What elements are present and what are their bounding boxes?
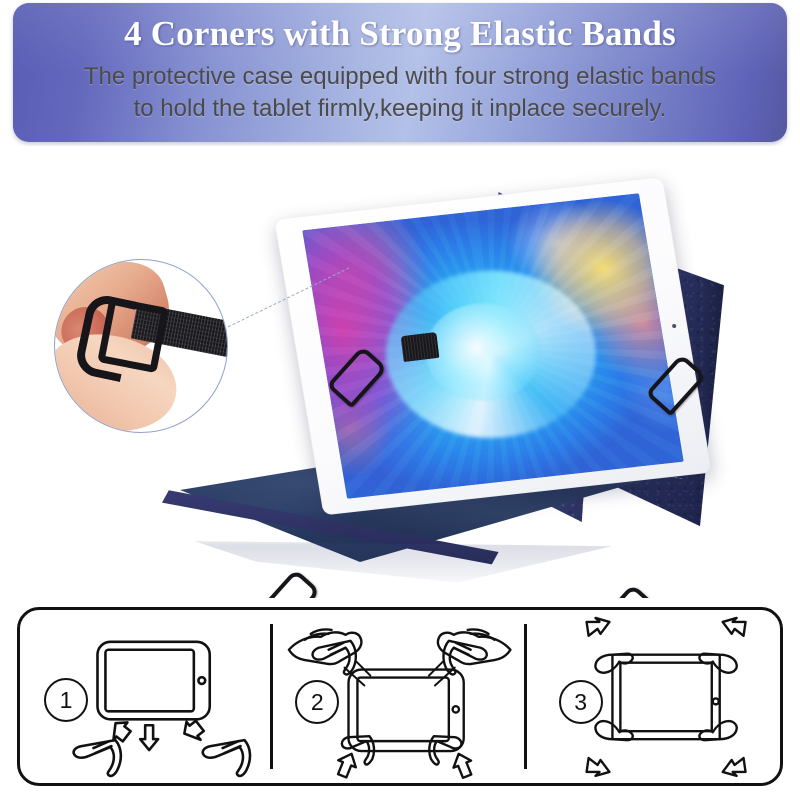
step-3-illustration — [527, 610, 780, 782]
step-2-illustration — [273, 610, 526, 782]
elastic-band-top — [401, 332, 440, 362]
case-reflection — [170, 541, 650, 593]
corner-clip-bottom-right — [596, 584, 657, 598]
header-subtitle-line-2: to hold the tablet firmly,keeping it inp… — [53, 93, 747, 125]
tablet-camera-icon — [672, 324, 677, 328]
page-title: 4 Corners with Strong Elastic Bands — [13, 14, 787, 54]
corner-clip-bottom-left — [259, 569, 320, 598]
instruction-step-1: 1 — [20, 610, 273, 783]
header-subtitle: The protective case equipped with four s… — [53, 61, 747, 125]
instruction-step-3: 3 — [527, 610, 780, 783]
tablet-screen — [302, 193, 683, 498]
instruction-panel: 1 2 — [17, 607, 783, 786]
instruction-step-2: 2 — [273, 610, 526, 783]
step-1-illustration — [20, 610, 273, 782]
callout-circle-elastic-band — [54, 259, 228, 433]
tablet-frame — [274, 177, 712, 516]
product-photo — [0, 146, 800, 598]
header-subtitle-line-1: The protective case equipped with four s… — [84, 63, 716, 90]
tablet-device — [274, 177, 712, 516]
header-banner: 4 Corners with Strong Elastic Bands The … — [13, 3, 787, 142]
